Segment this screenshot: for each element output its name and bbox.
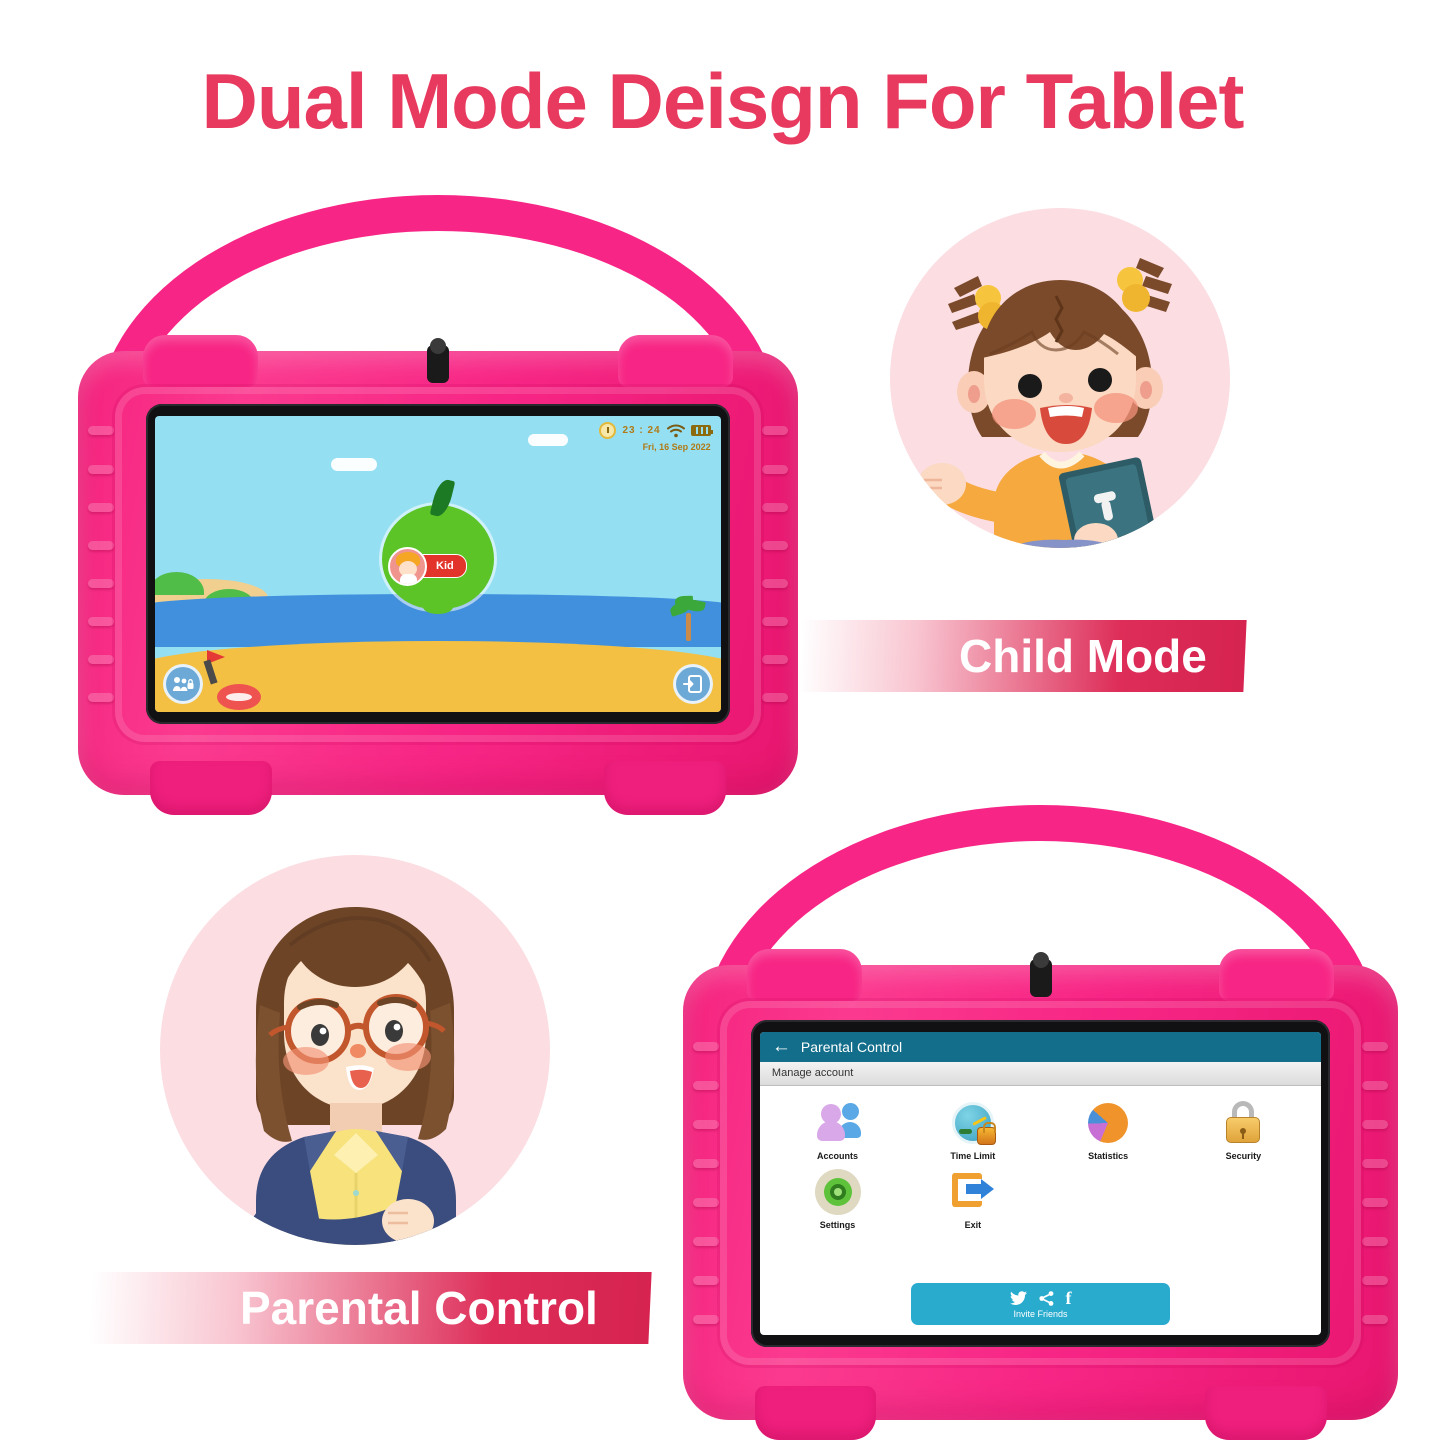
exit-button[interactable] bbox=[673, 664, 713, 704]
status-bar: 23 : 24 Fri, 16 Sep 2022 bbox=[599, 422, 710, 452]
banner-child-mode-label: Child Mode bbox=[959, 629, 1207, 683]
exit-icon bbox=[950, 1169, 996, 1215]
twitter-icon bbox=[1010, 1291, 1027, 1305]
case-body: Kid 23 : 24 bbox=[78, 351, 798, 795]
palm-tree-icon bbox=[671, 599, 705, 641]
cloud-icon bbox=[528, 434, 568, 446]
invite-friends-label: Invite Friends bbox=[1013, 1309, 1067, 1319]
green-apple-icon: Kid bbox=[382, 505, 494, 609]
pc-tile-label: Exit bbox=[965, 1220, 982, 1230]
case-body: ← Parental Control Manage account Acco bbox=[683, 965, 1398, 1420]
parental-lock-icon bbox=[172, 675, 194, 693]
pc-tile-label: Settings bbox=[820, 1220, 856, 1230]
apple-leaf-icon bbox=[429, 477, 455, 518]
banner-parental-control: Parental Control bbox=[88, 1272, 651, 1344]
parental-control-screen[interactable]: ← Parental Control Manage account Acco bbox=[760, 1032, 1321, 1336]
woman-with-glasses-illustration bbox=[160, 855, 550, 1245]
parent-illustration-circle bbox=[160, 855, 550, 1245]
battery-icon bbox=[691, 425, 711, 436]
cloud-icon bbox=[331, 458, 377, 471]
status-time: 23 : 24 bbox=[622, 425, 660, 436]
product-feature-page: Dual Mode Deisgn For Tablet bbox=[0, 0, 1445, 1445]
pc-tile-label: Accounts bbox=[817, 1151, 858, 1161]
case-nub-right bbox=[618, 335, 733, 387]
page-title: Dual Mode Deisgn For Tablet bbox=[0, 56, 1445, 147]
status-date: Fri, 16 Sep 2022 bbox=[643, 442, 711, 452]
pc-tile-label: Security bbox=[1226, 1151, 1262, 1161]
kid-profile-widget[interactable]: Kid bbox=[382, 505, 494, 609]
kid-profile-chip[interactable]: Kid bbox=[388, 547, 467, 586]
grip-ribs-left bbox=[693, 1042, 719, 1324]
exit-arrow-icon bbox=[682, 673, 704, 695]
case-foot-left bbox=[150, 761, 272, 815]
tablet-parental-control: ← Parental Control Manage account Acco bbox=[683, 805, 1398, 1420]
pc-header: ← Parental Control bbox=[760, 1032, 1321, 1062]
pc-header-title: Parental Control bbox=[801, 1039, 902, 1055]
camera-icon bbox=[427, 345, 449, 383]
pc-tile-security[interactable]: Security bbox=[1176, 1100, 1311, 1161]
pc-tile-grid: Accounts Time Limit Stat bbox=[760, 1086, 1321, 1282]
pc-subbar-label: Manage account bbox=[772, 1067, 853, 1079]
kid-avatar-icon bbox=[388, 547, 427, 586]
tablet-screen-bezel: ← Parental Control Manage account Acco bbox=[751, 1020, 1330, 1348]
pc-tile-time-limit[interactable]: Time Limit bbox=[905, 1100, 1040, 1161]
clock-icon bbox=[599, 422, 616, 439]
child-girl-with-book-illustration bbox=[890, 208, 1230, 548]
pc-tile-statistics[interactable]: Statistics bbox=[1041, 1100, 1176, 1161]
grip-ribs-left bbox=[88, 426, 114, 701]
pc-subbar: Manage account bbox=[760, 1062, 1321, 1086]
accounts-icon bbox=[815, 1100, 861, 1146]
pc-tile-accounts[interactable]: Accounts bbox=[770, 1100, 905, 1161]
case-nub-right bbox=[1219, 949, 1333, 1001]
wifi-icon bbox=[667, 424, 685, 438]
pc-tile-exit[interactable]: Exit bbox=[905, 1169, 1040, 1230]
back-arrow-icon[interactable]: ← bbox=[772, 1037, 791, 1056]
time-limit-icon bbox=[950, 1100, 996, 1146]
tablet-screen-bezel: Kid 23 : 24 bbox=[146, 404, 729, 724]
case-nub-left bbox=[747, 949, 861, 1001]
grip-ribs-right bbox=[1362, 1042, 1388, 1324]
child-mode-screen[interactable]: Kid 23 : 24 bbox=[155, 416, 720, 712]
gear-icon bbox=[815, 1169, 861, 1215]
grip-ribs-right bbox=[762, 426, 788, 701]
share-icon bbox=[1039, 1291, 1054, 1306]
tablet-child-mode: Kid 23 : 24 bbox=[78, 195, 798, 795]
case-foot-right bbox=[1205, 1386, 1327, 1440]
banner-parental-control-label: Parental Control bbox=[240, 1281, 598, 1335]
pc-tile-label: Statistics bbox=[1088, 1151, 1128, 1161]
facebook-icon: f bbox=[1066, 1289, 1072, 1307]
invite-friends-button[interactable]: f Invite Friends bbox=[911, 1283, 1169, 1325]
padlock-icon bbox=[1220, 1100, 1266, 1146]
pc-tile-settings[interactable]: Settings bbox=[770, 1169, 905, 1230]
camera-icon bbox=[1030, 959, 1052, 997]
child-illustration-circle bbox=[890, 208, 1230, 548]
banner-child-mode: Child Mode bbox=[798, 620, 1246, 692]
case-foot-left bbox=[755, 1386, 877, 1440]
case-nub-left bbox=[143, 335, 258, 387]
invite-social-icons: f bbox=[1010, 1289, 1072, 1307]
pc-tile-label: Time Limit bbox=[950, 1151, 995, 1161]
statistics-pie-icon bbox=[1085, 1100, 1131, 1146]
